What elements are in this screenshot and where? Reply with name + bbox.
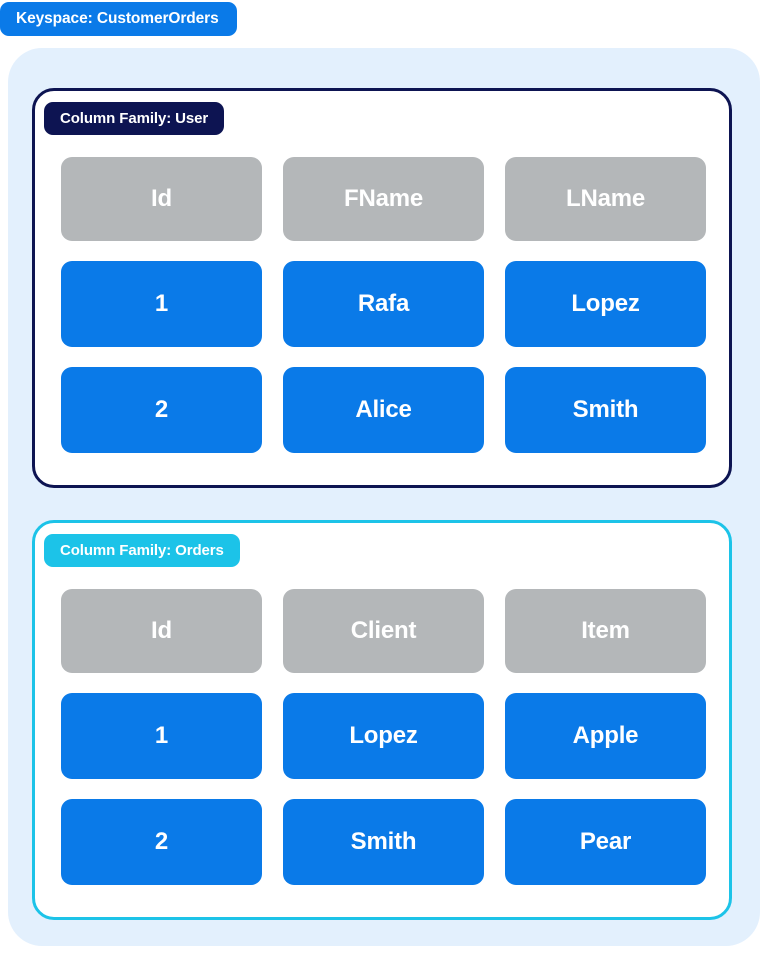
column-family-card-orders: Column Family: Orders Id Client Item 1 L… <box>32 520 732 920</box>
table-row: 2 Alice Smith <box>61 367 706 453</box>
table-row: 1 Rafa Lopez <box>61 261 706 347</box>
column-header-cell: Id <box>61 589 262 673</box>
table-header-row: Id Client Item <box>61 589 706 673</box>
column-header-cell: LName <box>505 157 706 241</box>
table-cell: 2 <box>61 367 262 453</box>
column-family-table-orders: Id Client Item 1 Lopez Apple 2 Smith Pea… <box>61 589 706 885</box>
table-header-row: Id FName LName <box>61 157 706 241</box>
table-cell: Smith <box>283 799 484 885</box>
column-family-badge-orders: Column Family: Orders <box>44 534 240 567</box>
diagram-canvas: Keyspace: CustomerOrders Column Family: … <box>0 0 768 960</box>
column-header-cell: FName <box>283 157 484 241</box>
table-cell: Rafa <box>283 261 484 347</box>
column-header-cell: Item <box>505 589 706 673</box>
column-family-card-user: Column Family: User Id FName LName 1 Raf… <box>32 88 732 488</box>
table-cell: 2 <box>61 799 262 885</box>
column-family-table-user: Id FName LName 1 Rafa Lopez 2 Alice Smit… <box>61 157 706 453</box>
table-cell: Lopez <box>283 693 484 779</box>
table-cell: Alice <box>283 367 484 453</box>
table-cell: 1 <box>61 693 262 779</box>
column-header-cell: Client <box>283 589 484 673</box>
column-header-cell: Id <box>61 157 262 241</box>
table-cell: Smith <box>505 367 706 453</box>
table-cell: Pear <box>505 799 706 885</box>
table-cell: Lopez <box>505 261 706 347</box>
table-cell: Apple <box>505 693 706 779</box>
table-row: 1 Lopez Apple <box>61 693 706 779</box>
table-cell: 1 <box>61 261 262 347</box>
column-family-badge-user: Column Family: User <box>44 102 224 135</box>
table-row: 2 Smith Pear <box>61 799 706 885</box>
keyspace-badge: Keyspace: CustomerOrders <box>0 2 237 36</box>
